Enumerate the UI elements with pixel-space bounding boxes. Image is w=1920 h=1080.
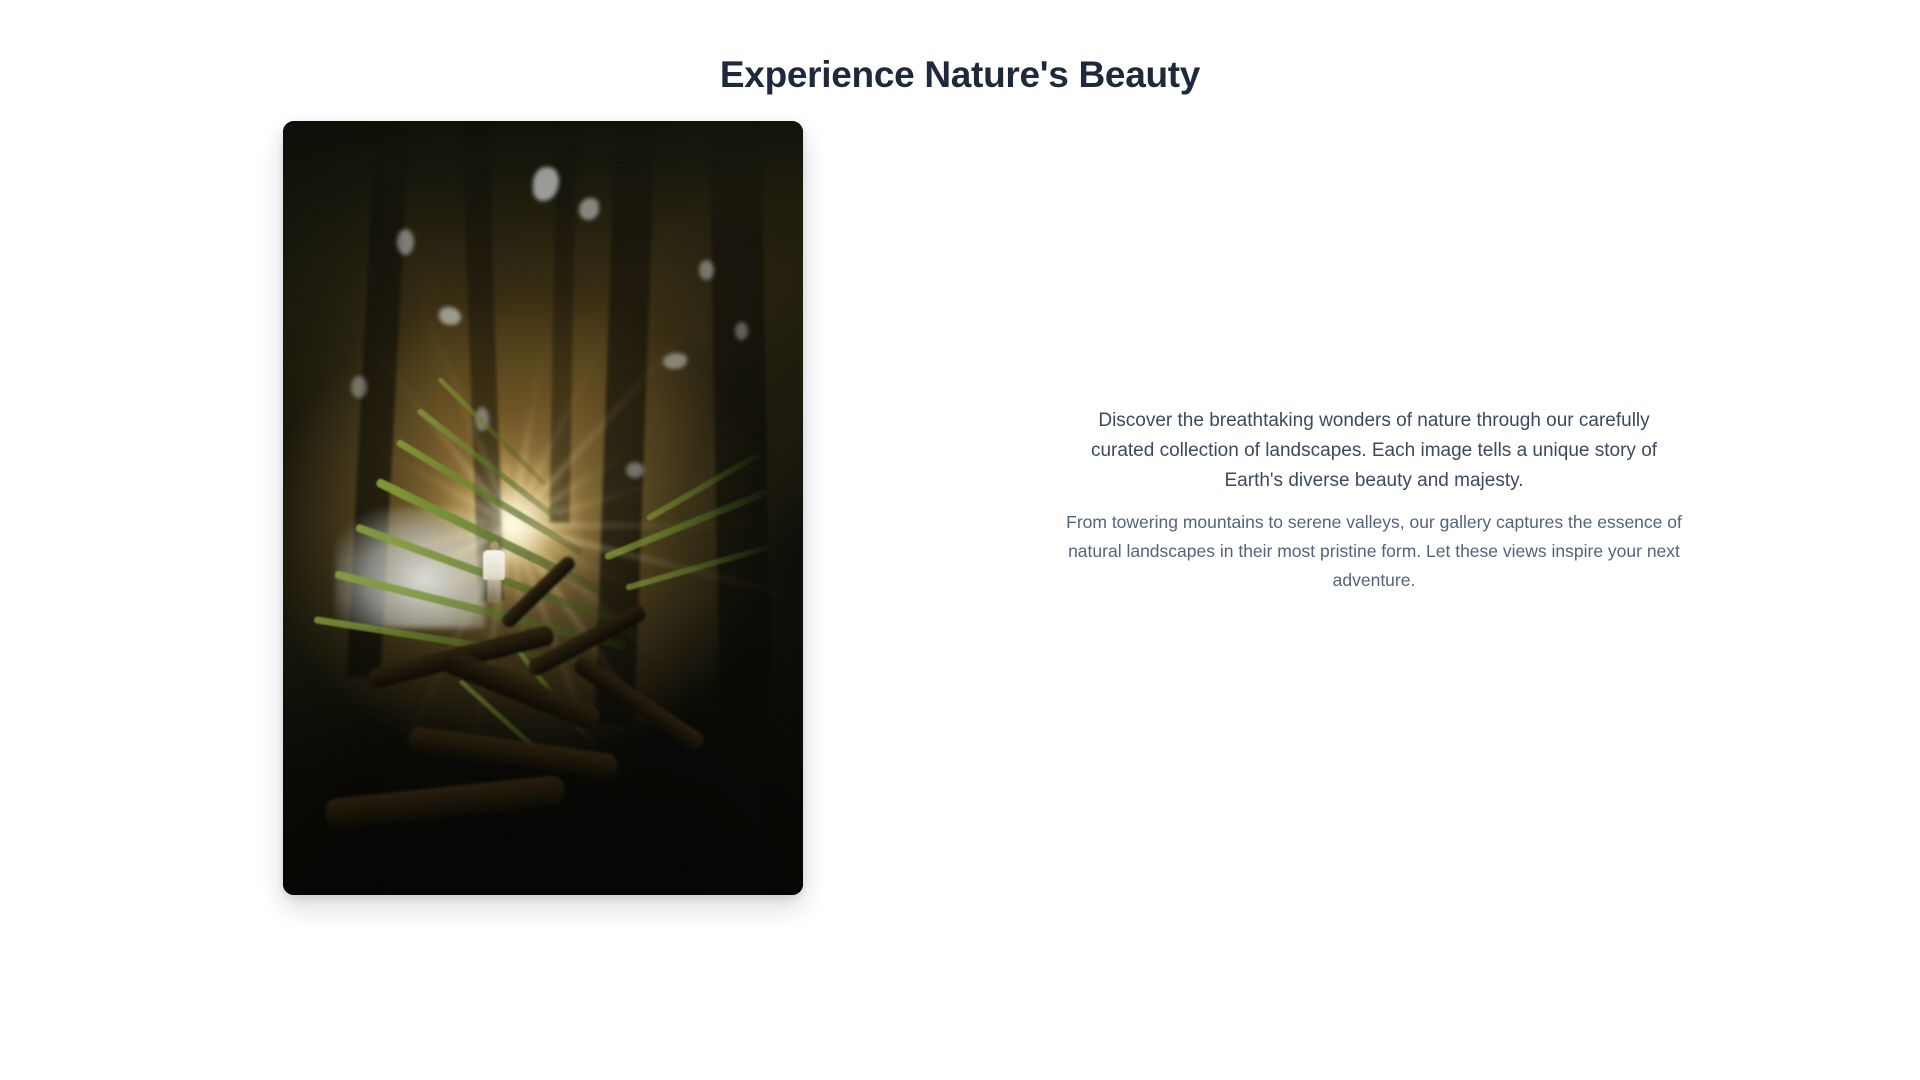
sun-ray [512, 523, 762, 528]
lead-paragraph: Discover the breathtaking wonders of nat… [1070, 406, 1678, 496]
fallen-log [324, 774, 566, 829]
content-row: Discover the breathtaking wonders of nat… [0, 105, 1920, 895]
sky-gap [351, 376, 367, 398]
person-white-shirt [483, 550, 505, 580]
page-root: Experience Nature's Beauty [0, 0, 1920, 1080]
text-column: Discover the breathtaking wonders of nat… [960, 105, 1920, 895]
sky-gap [626, 462, 644, 478]
media-column [0, 105, 960, 895]
sky-gap [579, 198, 599, 220]
forest-sunlight-photo [283, 121, 803, 895]
sky-gap [397, 229, 414, 255]
page-title: Experience Nature's Beauty [0, 53, 1920, 97]
tree-trunk-silhouette [709, 121, 772, 772]
secondary-paragraph: From towering mountains to serene valley… [1044, 508, 1704, 595]
person-figure [481, 541, 507, 603]
person-legs [487, 578, 501, 603]
sky-gap [439, 307, 461, 325]
photo-canvas [283, 121, 803, 895]
